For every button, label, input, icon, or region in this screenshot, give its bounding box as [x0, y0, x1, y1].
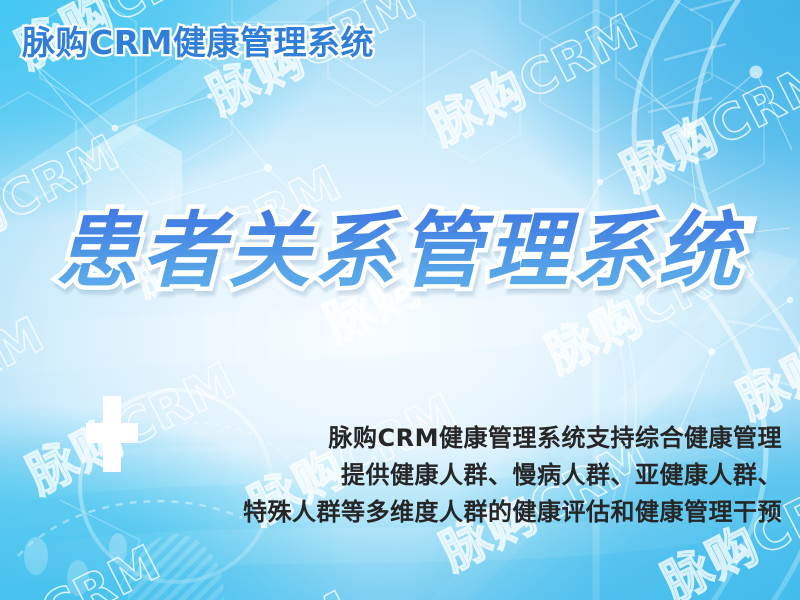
description-line: 脉购CRM健康管理系统支持综合健康管理	[142, 420, 782, 457]
description-line: 特殊人群等多维度人群的健康评估和健康管理干预	[142, 494, 782, 531]
promo-banner: 脉购CRM脉购CRM脉购CRM脉购CRM脉购CRM 脉购CRM脉购CRM脉购CR…	[0, 0, 800, 600]
page-title-text: 患者关系管理系统	[56, 206, 744, 298]
cross-bar-horizontal	[86, 423, 138, 443]
page-title: 患者关系管理系统 患者关系管理系统 患者关系管理系统	[0, 206, 800, 298]
description-block: 脉购CRM健康管理系统支持综合健康管理 提供健康人群、慢病人群、亚健康人群、 特…	[142, 420, 782, 531]
brand-logo: 脉购CRM健康管理系统	[22, 23, 374, 63]
medical-cross-icon	[86, 396, 138, 472]
description-line: 提供健康人群、慢病人群、亚健康人群、	[142, 457, 782, 494]
